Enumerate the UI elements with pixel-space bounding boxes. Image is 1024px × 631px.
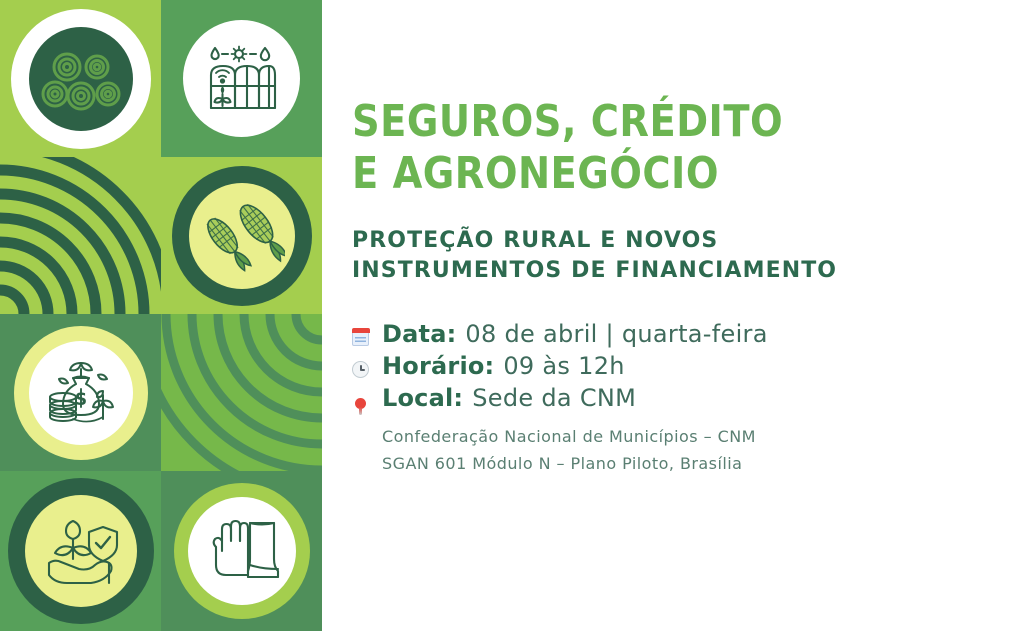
event-subtitle-line-2: INSTRUMENTOS DE FINANCIAMENTO <box>352 256 1024 286</box>
seed-clusters-medallion <box>11 9 151 149</box>
location-pin-icon <box>352 392 373 411</box>
time-value: 09 às 12h <box>503 352 624 380</box>
text-panel: SEGUROS, CRÉDITO E AGRONEGÓCIO PROTEÇÃO … <box>322 0 1024 631</box>
tile-corn-cobs <box>161 157 322 314</box>
event-title: SEGUROS, CRÉDITO E AGRONEGÓCIO <box>352 96 1004 200</box>
event-title-line-2: E AGRONEGÓCIO <box>352 148 1004 200</box>
corn-cobs-icon <box>199 193 285 279</box>
location-value: Sede da CNM <box>472 384 636 412</box>
date-value: 08 de abril | quarta-feira <box>465 320 767 348</box>
corn-medallion <box>189 183 295 289</box>
venue-address: Confederação Nacional de Municípios – CN… <box>382 423 1024 478</box>
concentric-arcs-pattern-icon <box>0 157 161 314</box>
detail-row-time: Horário: 09 às 12h <box>352 352 1024 380</box>
event-banner: S <box>0 0 1024 631</box>
event-title-line-1: SEGUROS, CRÉDITO <box>352 96 1004 148</box>
money-bag-growth-icon: S <box>43 357 119 429</box>
event-subtitle: PROTEÇÃO RURAL E NOVOS INSTRUMENTOS DE F… <box>352 226 1024 286</box>
tile-glove-boot <box>161 471 322 631</box>
tile-arcs-pattern-right <box>161 314 322 471</box>
seed-clusters-icon <box>29 27 133 131</box>
event-subtitle-line-1: PROTEÇÃO RURAL E NOVOS <box>352 226 1024 256</box>
detail-row-location: Local: Sede da CNM <box>352 384 1024 412</box>
tile-smart-greenhouse <box>161 0 322 157</box>
tile-arcs-pattern-left <box>0 157 161 314</box>
tile-hand-sprout-shield <box>0 471 161 631</box>
smart-greenhouse-icon <box>203 42 281 116</box>
glove-boot-medallion <box>188 497 296 605</box>
time-label: Horário: <box>382 352 494 380</box>
glove-boot-icon <box>202 515 282 587</box>
money-bag-medallion: S <box>29 341 133 445</box>
graphic-panel: S <box>0 0 322 631</box>
hand-sprout-shield-icon <box>39 515 123 587</box>
date-label: Data: <box>382 320 456 348</box>
calendar-icon <box>352 326 373 347</box>
location-label: Local: <box>382 384 463 412</box>
tile-money-bag-growth: S <box>0 314 161 471</box>
tile-seed-clusters <box>0 0 161 157</box>
detail-row-date: Data: 08 de abril | quarta-feira <box>352 320 1024 348</box>
hand-sprout-medallion <box>25 495 137 607</box>
address-line-2: SGAN 601 Módulo N – Plano Piloto, Brasíl… <box>382 450 1024 478</box>
address-line-1: Confederação Nacional de Municípios – CN… <box>382 423 1024 451</box>
concentric-arcs-pattern-icon-2 <box>161 314 322 471</box>
greenhouse-medallion <box>183 20 300 137</box>
event-details: Data: 08 de abril | quarta-feira Horário… <box>352 320 1024 478</box>
clock-icon <box>352 358 373 379</box>
